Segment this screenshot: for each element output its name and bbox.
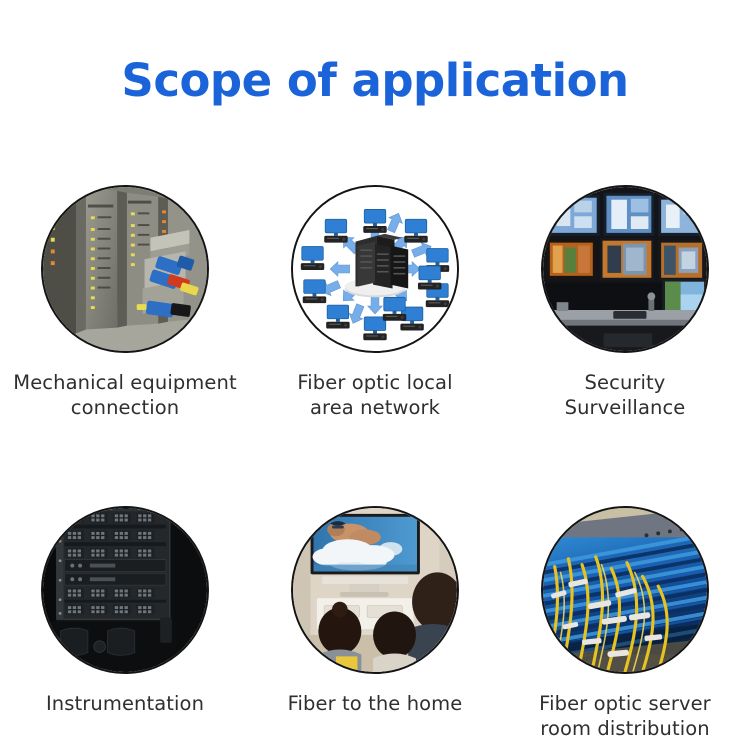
- instrument-rack-photo: [41, 506, 209, 674]
- page-title: Scope of application: [0, 56, 750, 106]
- application-item-caption: Fiber optic local area network: [297, 371, 452, 421]
- family-watching-tv-photo: [291, 506, 459, 674]
- application-item-security-surveillance[interactable]: Security Surveillance: [500, 185, 750, 421]
- application-item-caption: Instrumentation: [46, 692, 204, 717]
- fiber-patch-panel-photo: [41, 185, 209, 353]
- application-item-caption: Security Surveillance: [565, 371, 686, 421]
- cable-distribution-photo: [541, 506, 709, 674]
- application-item-caption: Mechanical equipment connection: [13, 371, 236, 421]
- application-item-fiber-optic-server-room-distribution[interactable]: Fiber optic server room distribution: [500, 506, 750, 742]
- application-grid: Mechanical equipment connection: [0, 185, 750, 742]
- grid-row-2: Instrumentation: [0, 506, 750, 742]
- application-item-fiber-to-the-home[interactable]: Fiber to the home: [250, 506, 500, 717]
- application-item-mechanical-equipment-connection[interactable]: Mechanical equipment connection: [0, 185, 250, 421]
- network-topology-diagram: [291, 185, 459, 353]
- application-item-caption: Fiber to the home: [288, 692, 463, 717]
- surveillance-control-room-photo: [541, 185, 709, 353]
- application-item-instrumentation[interactable]: Instrumentation: [0, 506, 250, 717]
- scope-of-application-page: Scope of application: [0, 0, 750, 750]
- grid-row-1: Mechanical equipment connection: [0, 185, 750, 421]
- application-item-caption: Fiber optic server room distribution: [539, 692, 711, 742]
- application-item-fiber-optic-local-area-network[interactable]: Fiber optic local area network: [250, 185, 500, 421]
